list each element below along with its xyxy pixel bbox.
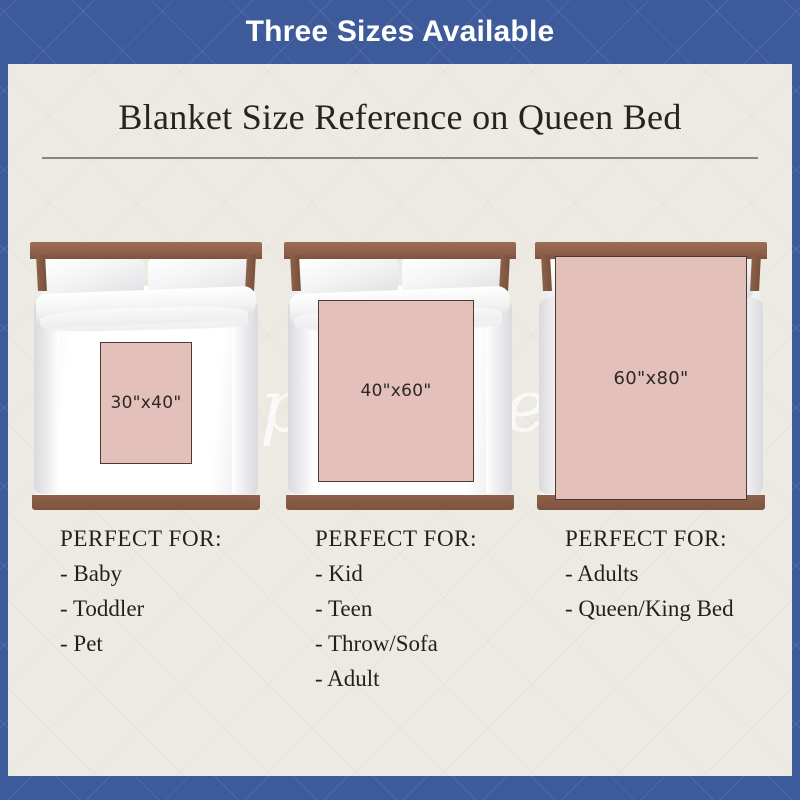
perfect-for-item: - Teen bbox=[315, 596, 477, 622]
blanket-swatch-large: 60"x80" bbox=[555, 256, 747, 500]
perfect-for-item: - Toddler bbox=[60, 596, 222, 622]
bed-illustration-small: 30"x40" bbox=[30, 242, 262, 510]
perfect-for-heading: PERFECT FOR: bbox=[565, 526, 734, 552]
blanket-size-label: 30"x40" bbox=[110, 393, 181, 413]
bed-illustration-medium: 40"x60" bbox=[284, 242, 516, 510]
perfect-for-item: - Kid bbox=[315, 561, 477, 587]
bed-post-left bbox=[541, 255, 552, 291]
duvet-drape-right bbox=[232, 298, 258, 494]
bed-illustration-large: 60"x80" bbox=[535, 242, 767, 510]
perfect-for-heading: PERFECT FOR: bbox=[60, 526, 222, 552]
header-banner: Three Sizes Available bbox=[0, 0, 800, 64]
perfect-for-item: - Throw/Sofa bbox=[315, 631, 477, 657]
perfect-for-item: - Adults bbox=[565, 561, 734, 587]
duvet-drape-right bbox=[486, 298, 512, 494]
blanket-size-label: 60"x80" bbox=[613, 368, 688, 389]
perfect-for-item: - Baby bbox=[60, 561, 222, 587]
perfect-for-column-medium: PERFECT FOR: - Kid - Teen - Throw/Sofa -… bbox=[315, 526, 477, 701]
blanket-size-label: 40"x60" bbox=[360, 381, 431, 401]
header-title: Three Sizes Available bbox=[246, 15, 555, 49]
perfect-for-heading: PERFECT FOR: bbox=[315, 526, 477, 552]
headboard bbox=[30, 242, 262, 259]
infographic-page: Three Sizes Available Blanket Size Refer… bbox=[0, 0, 800, 800]
blanket-swatch-small: 30"x40" bbox=[100, 342, 192, 464]
perfect-for-column-large: PERFECT FOR: - Adults - Queen/King Bed bbox=[565, 526, 734, 631]
perfect-for-item: - Queen/King Bed bbox=[565, 596, 734, 622]
perfect-for-item: - Pet bbox=[60, 631, 222, 657]
content-panel: Blanket Size Reference on Queen Bed Aper… bbox=[8, 64, 792, 776]
footboard bbox=[286, 495, 514, 510]
bed-post-right bbox=[750, 255, 761, 291]
bed-post-left bbox=[290, 255, 301, 291]
headboard bbox=[284, 242, 516, 259]
footboard bbox=[32, 495, 260, 510]
perfect-for-column-small: PERFECT FOR: - Baby - Toddler - Pet bbox=[60, 526, 222, 666]
perfect-for-item: - Adult bbox=[315, 666, 477, 692]
blanket-swatch-medium: 40"x60" bbox=[318, 300, 474, 482]
bed-post-left bbox=[36, 255, 47, 291]
